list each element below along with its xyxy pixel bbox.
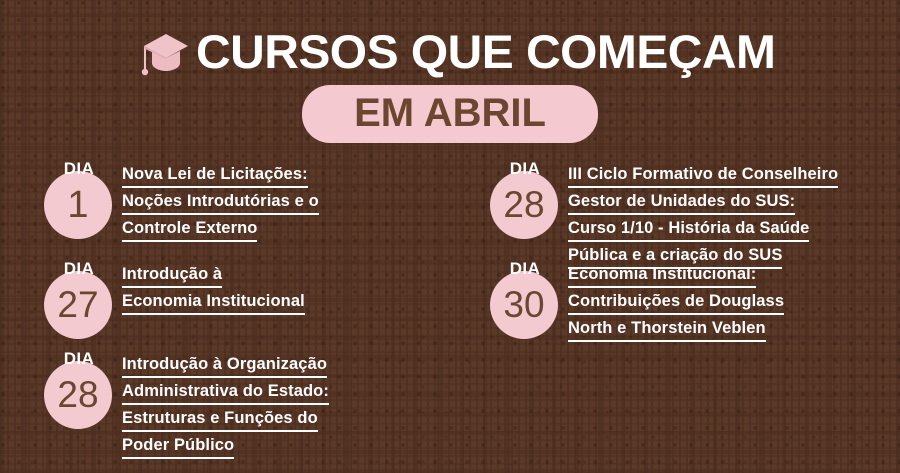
- course-title-line: Economia Institucional: [122, 289, 305, 315]
- course-title-line: Nova Lei de Licitações:: [122, 162, 308, 188]
- title-row: CURSOS QUE COMEÇAM: [0, 0, 900, 82]
- course-title[interactable]: Economia Institucional:Contribuições de …: [568, 260, 784, 343]
- day-badge: DIA30: [490, 260, 560, 339]
- day-label: DIA: [44, 260, 114, 277]
- course-item[interactable]: DIA1Nova Lei de Licitações:Noções Introd…: [44, 160, 319, 243]
- course-title[interactable]: Introdução àEconomia Institucional: [122, 260, 305, 316]
- course-title-line: Administrativa do Estado:: [122, 379, 329, 405]
- course-title-line: Curso 1/10 - História da Saúde: [568, 216, 809, 242]
- graduation-cap-icon: [136, 30, 190, 82]
- page-title: CURSOS QUE COMEÇAM: [196, 26, 775, 78]
- badge-row: EM ABRIL: [0, 85, 900, 143]
- day-label: DIA: [44, 350, 114, 367]
- course-title-line: Estruturas e Funções do: [122, 406, 318, 432]
- poster-frame: CURSOS QUE COMEÇAM EM ABRIL DIA1Nova Lei…: [0, 0, 900, 473]
- month-badge: EM ABRIL: [302, 85, 598, 143]
- course-title-line: Gestor de Unidades do SUS:: [568, 189, 795, 215]
- course-title[interactable]: III Ciclo Formativo de ConselheiroGestor…: [568, 160, 838, 270]
- course-title-line: Controle Externo: [122, 216, 257, 242]
- course-item[interactable]: DIA28Introdução à OrganizaçãoAdministrat…: [44, 350, 329, 460]
- course-title-line: Economia Institucional:: [568, 262, 756, 288]
- poster-header: CURSOS QUE COMEÇAM EM ABRIL: [0, 0, 900, 143]
- course-title-line: III Ciclo Formativo de Conselheiro: [568, 162, 838, 188]
- course-item[interactable]: DIA27Introdução àEconomia Institucional: [44, 260, 305, 339]
- day-label: DIA: [44, 160, 114, 177]
- day-badge: DIA1: [44, 160, 114, 239]
- course-title-line: Introdução à: [122, 262, 222, 288]
- day-number: 1: [44, 171, 112, 239]
- day-number: 27: [44, 271, 112, 339]
- day-badge: DIA28: [44, 350, 114, 429]
- day-label: DIA: [490, 160, 560, 177]
- day-number: 30: [490, 271, 558, 339]
- course-title-line: North e Thorstein Veblen: [568, 316, 766, 342]
- course-item[interactable]: DIA28III Ciclo Formativo de ConselheiroG…: [490, 160, 838, 270]
- day-badge: DIA27: [44, 260, 114, 339]
- day-label: DIA: [490, 260, 560, 277]
- course-title-line: Poder Público: [122, 433, 234, 459]
- day-number: 28: [44, 361, 112, 429]
- course-title[interactable]: Nova Lei de Licitações:Noções Introdutór…: [122, 160, 319, 243]
- course-title[interactable]: Introdução à OrganizaçãoAdministrativa d…: [122, 350, 329, 460]
- course-title-line: Introdução à Organização: [122, 352, 327, 378]
- course-title-line: Noções Introdutórias e o: [122, 189, 319, 215]
- day-badge: DIA28: [490, 160, 560, 239]
- day-number: 28: [490, 171, 558, 239]
- course-item[interactable]: DIA30Economia Institucional:Contribuiçõe…: [490, 260, 784, 343]
- course-title-line: Contribuições de Douglass: [568, 289, 784, 315]
